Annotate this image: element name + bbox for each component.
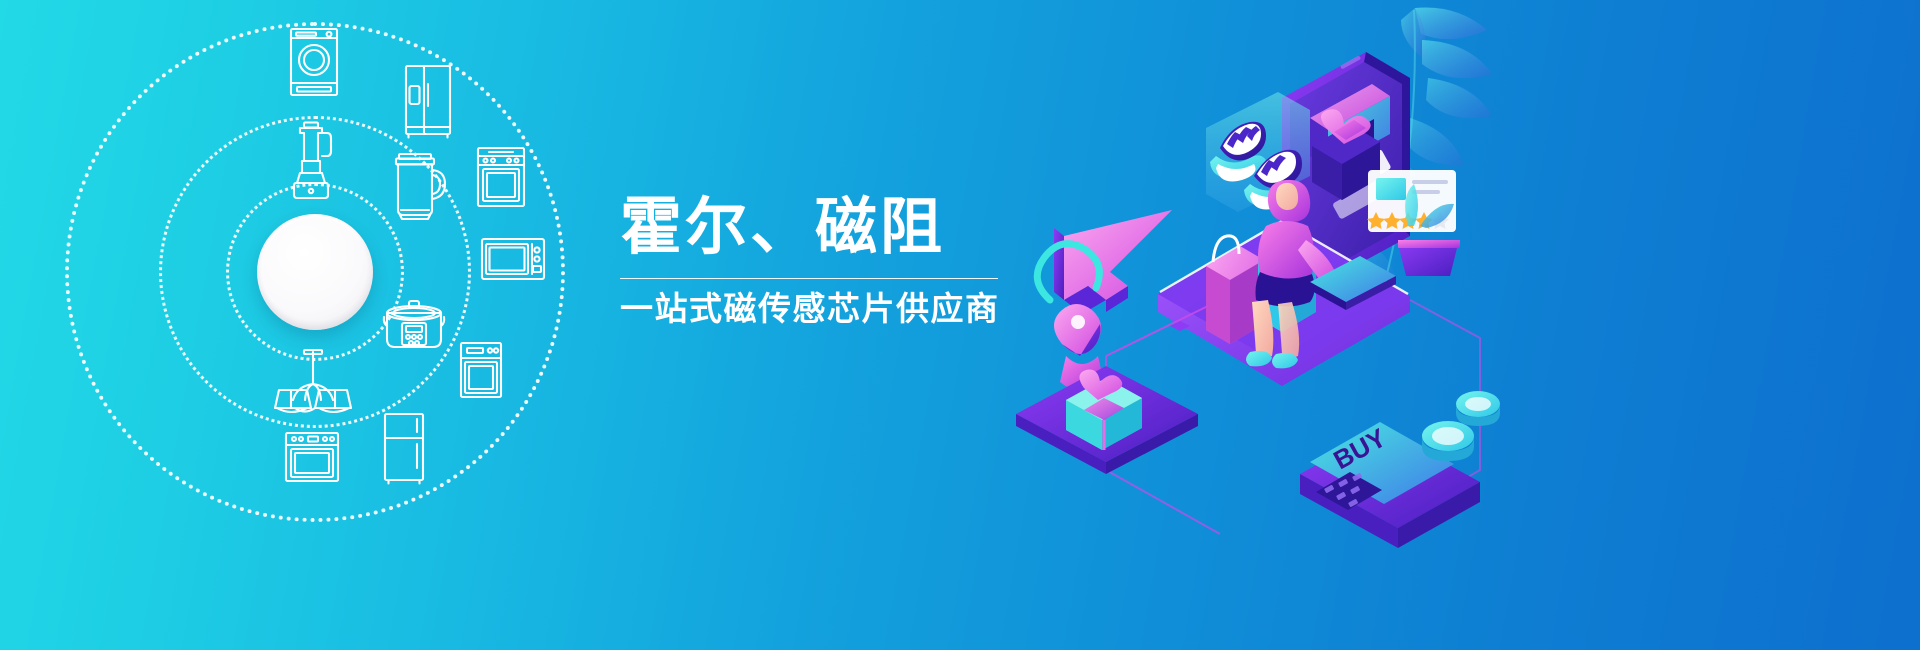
banner-copy: 霍尔、磁阻 一站式磁传感芯片供应商 (620, 196, 1040, 327)
rice-cooker-icon (382, 299, 446, 355)
stove-top-icon (284, 431, 340, 483)
oven-range-icon (476, 146, 526, 208)
appliance-ring-graphic (0, 0, 620, 650)
washing-machine-icon (289, 27, 339, 97)
electric-kettle-icon (390, 150, 450, 224)
arrow-cursor-icon (1054, 210, 1172, 314)
oven-icon (459, 341, 503, 399)
chandelier-icon (271, 350, 355, 416)
isometric-online-shopping-illustration: BUY (1010, 0, 1570, 650)
hero-banner: 霍尔、磁阻 一站式磁传感芯片供应商 (0, 0, 1920, 650)
microwave-icon (480, 237, 546, 281)
page-title: 霍尔、磁阻 (620, 196, 1040, 260)
center-glossy-disc (257, 214, 373, 330)
coins-icon (1422, 391, 1500, 461)
blender-icon (289, 120, 335, 200)
fridge-tall-icon (383, 412, 425, 484)
refrigerator-icon (404, 64, 452, 138)
page-subtitle: 一站式磁传感芯片供应商 (620, 291, 1040, 327)
title-divider (620, 278, 998, 279)
